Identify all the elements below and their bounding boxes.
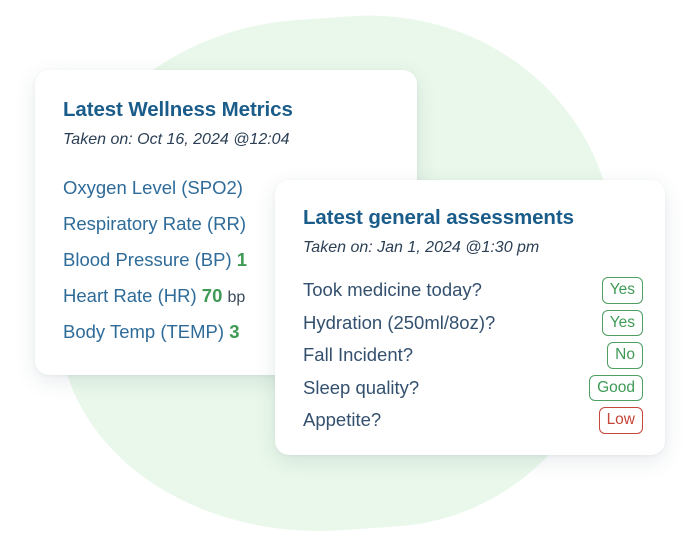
assessment-row: Sleep quality? Good (303, 372, 643, 405)
metric-value: 70 (202, 285, 223, 306)
metric-value: 1 (237, 249, 247, 270)
assessment-answer-badge: Good (589, 375, 643, 402)
assessment-question: Sleep quality? (303, 377, 419, 399)
wellness-card-timestamp: Taken on: Oct 16, 2024 @12:04 (63, 131, 417, 149)
metric-label: Body Temp (TEMP) (63, 321, 224, 342)
wellness-card-title: Latest Wellness Metrics (63, 98, 417, 122)
metric-value: 3 (229, 321, 239, 342)
metric-unit: bp (228, 289, 246, 306)
metric-label: Oxygen Level (SPO2) (63, 177, 243, 198)
assessment-question: Hydration (250ml/8oz)? (303, 312, 495, 334)
assessments-card-title: Latest general assessments (303, 206, 643, 230)
assessment-answer-badge: Yes (602, 310, 643, 337)
assessment-question: Took medicine today? (303, 279, 482, 301)
assessment-answer-badge: Low (599, 407, 643, 434)
metric-label: Blood Pressure (BP) (63, 249, 232, 270)
general-assessments-card: Latest general assessments Taken on: Jan… (275, 180, 665, 455)
assessment-row: Fall Incident? No (303, 339, 643, 372)
assessment-question: Appetite? (303, 409, 381, 431)
assessment-row: Took medicine today? Yes (303, 274, 643, 307)
assessment-list: Took medicine today? Yes Hydration (250m… (303, 274, 643, 437)
assessment-row: Hydration (250ml/8oz)? Yes (303, 307, 643, 340)
assessment-question: Fall Incident? (303, 344, 413, 366)
assessments-card-timestamp: Taken on: Jan 1, 2024 @1:30 pm (303, 239, 643, 257)
metric-label: Heart Rate (HR) (63, 285, 197, 306)
assessment-row: Appetite? Low (303, 404, 643, 437)
assessment-answer-badge: No (607, 342, 643, 369)
metric-label: Respiratory Rate (RR) (63, 213, 246, 234)
assessment-answer-badge: Yes (602, 277, 643, 304)
